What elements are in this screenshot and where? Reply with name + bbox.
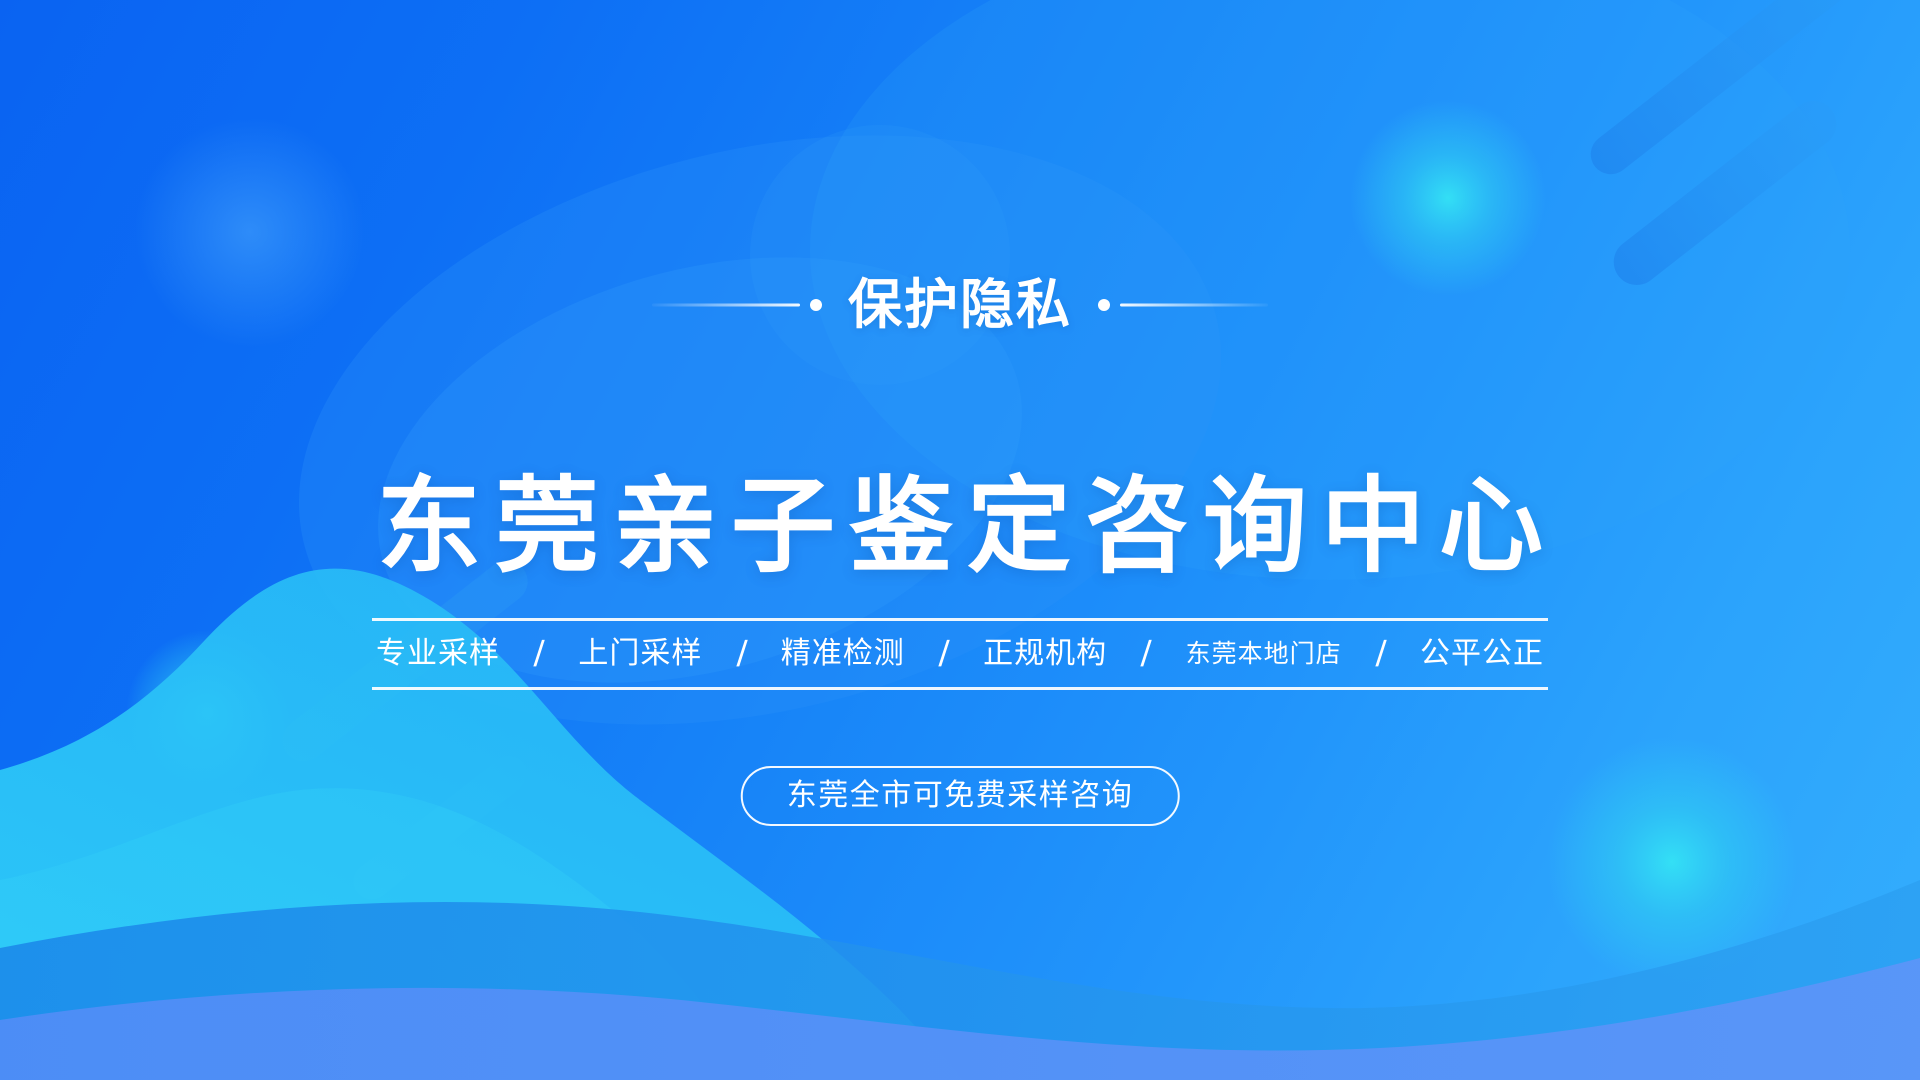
flourish-rule-left: [652, 304, 800, 307]
eyebrow-text: 保护隐私: [848, 278, 1072, 332]
feature-item: 上门采样: [578, 639, 702, 669]
feature-separator: /: [734, 636, 750, 672]
feature-separator: /: [1373, 636, 1389, 672]
eyebrow-row: 保护隐私: [0, 250, 1920, 360]
feature-separator: /: [531, 636, 547, 672]
flourish-rule-right: [1120, 304, 1268, 307]
feature-item: 专业采样: [376, 639, 500, 669]
feature-item: 正规机构: [983, 639, 1107, 669]
flourish-dot-right: [1098, 299, 1110, 311]
line-dot-flourish-right-icon: [1098, 299, 1268, 311]
feature-item: 东莞本地门店: [1186, 642, 1342, 667]
cta-label: 东莞全市可免费采样咨询: [787, 781, 1134, 811]
feature-separator: /: [936, 636, 952, 672]
feature-item: 精准检测: [781, 639, 905, 669]
line-dot-flourish-left-icon: [652, 299, 822, 311]
free-sampling-consult-button[interactable]: 东莞全市可免费采样咨询: [741, 766, 1180, 826]
page-title: 东莞亲子鉴定咨询中心: [0, 468, 1920, 588]
flourish-dot-left: [810, 299, 822, 311]
feature-item: 公平公正: [1420, 639, 1544, 669]
banner-content: 保护隐私 东莞亲子鉴定咨询中心 专业采样 / 上门采样 / 精准检测 / 正规机…: [0, 0, 1920, 1080]
feature-strip: 专业采样 / 上门采样 / 精准检测 / 正规机构 / 东莞本地门店 / 公平公…: [372, 618, 1548, 690]
promotional-banner: 保护隐私 东莞亲子鉴定咨询中心 专业采样 / 上门采样 / 精准检测 / 正规机…: [0, 0, 1920, 1080]
feature-separator: /: [1138, 636, 1154, 672]
